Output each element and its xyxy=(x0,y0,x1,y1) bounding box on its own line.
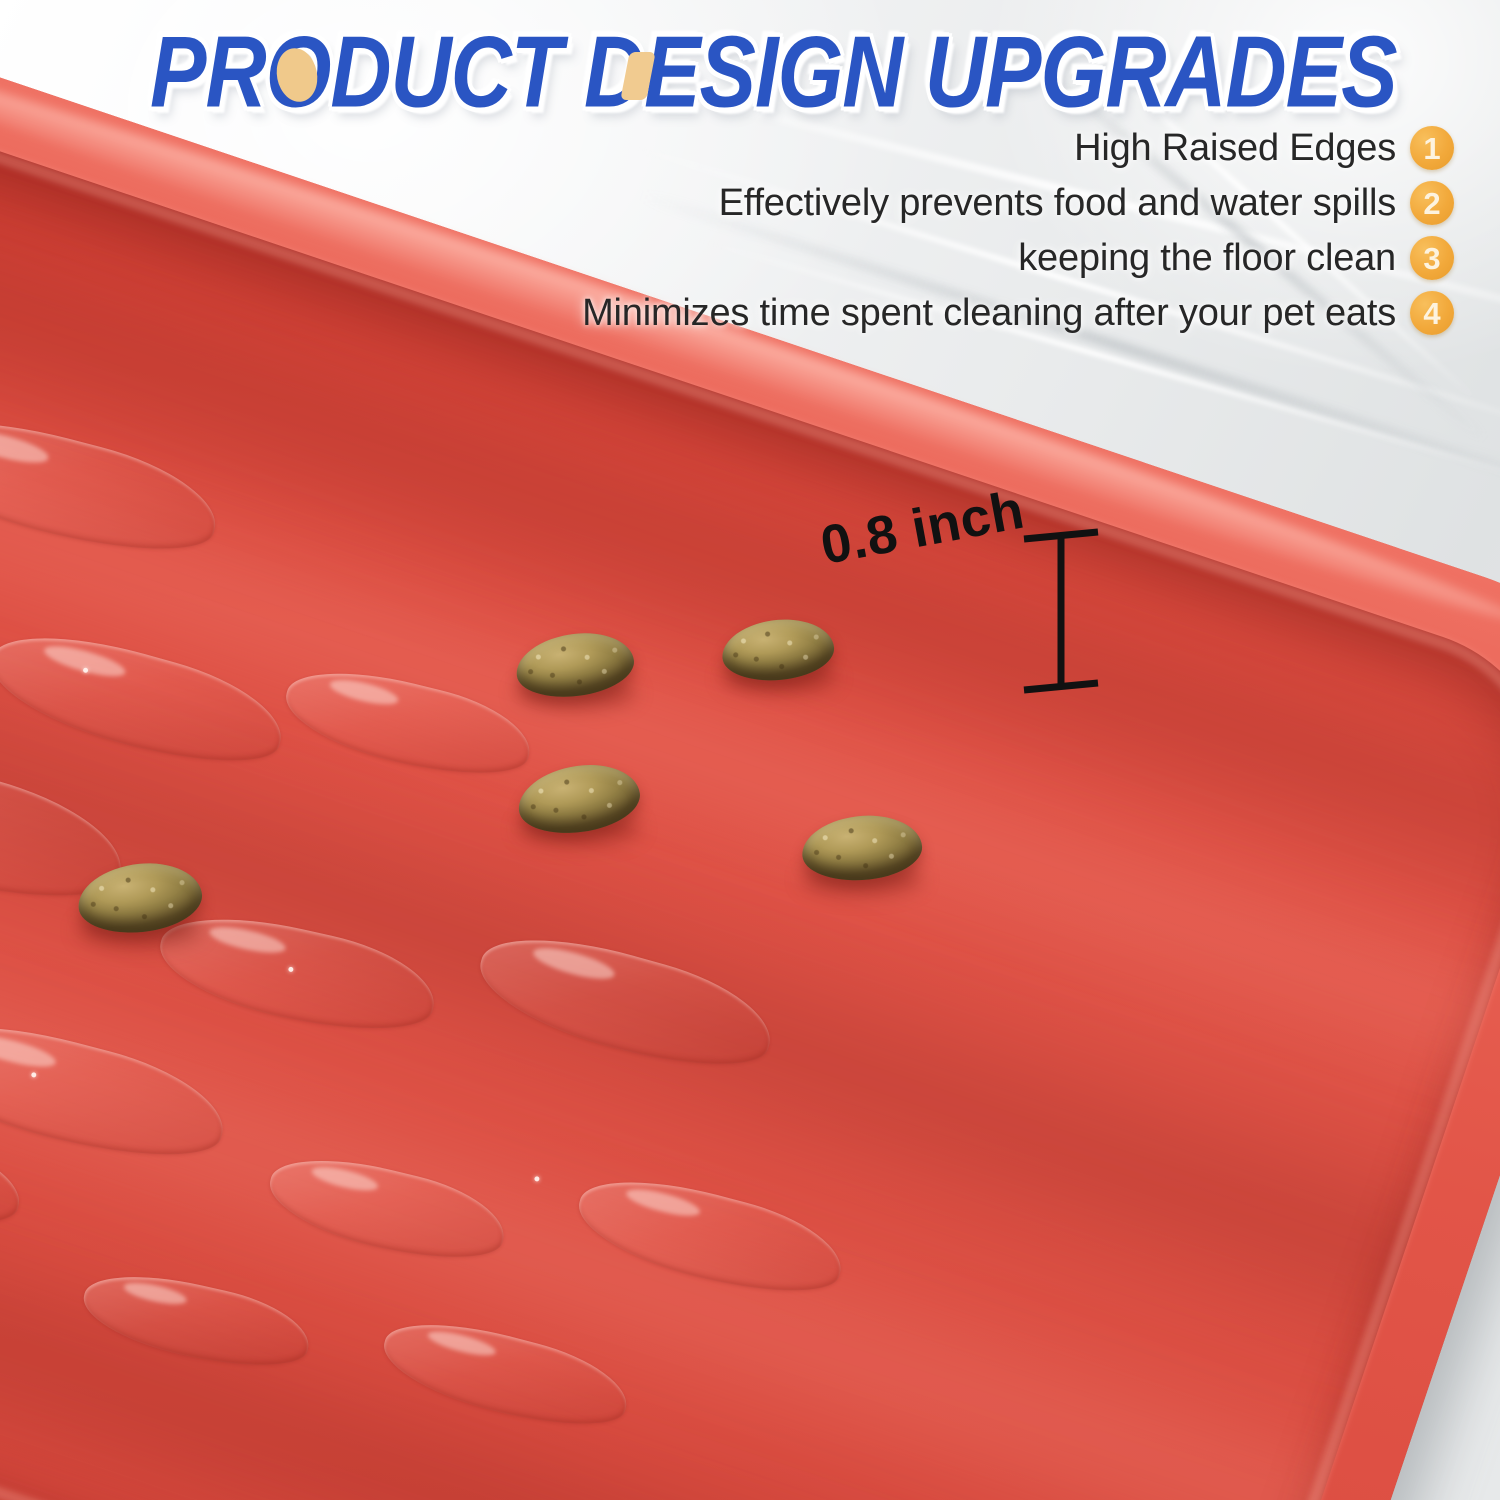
water-droplet xyxy=(0,615,293,784)
water-droplet xyxy=(0,726,135,923)
floor-shade-band-2 xyxy=(0,458,1500,1418)
feature-badge-3: 3 xyxy=(1410,236,1454,280)
feature-item-1: High Raised Edges 1 xyxy=(1074,126,1454,170)
water-sparkle xyxy=(288,966,294,972)
product-infographic: PRODUCT DESIGN UPGRADES High Raised Edge… xyxy=(0,0,1500,1500)
feature-badge-1: 1 xyxy=(1410,126,1454,170)
water-droplet xyxy=(261,1143,513,1275)
water-droplet xyxy=(151,900,444,1049)
feature-label-1: High Raised Edges xyxy=(1074,127,1396,170)
water-droplet xyxy=(277,655,539,792)
water-droplet xyxy=(569,1162,851,1311)
feature-label-4: Minimizes time spent cleaning after your… xyxy=(582,292,1396,335)
water-sparkle xyxy=(534,1176,540,1182)
water-droplet xyxy=(76,1261,316,1381)
feature-label-2: Effectively prevents food and water spil… xyxy=(719,182,1396,225)
water-droplet xyxy=(0,1003,235,1178)
feature-item-2: Effectively prevents food and water spil… xyxy=(719,181,1454,225)
water-sparkle xyxy=(82,667,88,673)
feature-list: High Raised Edges 1 Effectively prevents… xyxy=(582,126,1454,335)
floor-light-band-2 xyxy=(0,733,1465,1500)
floor-shade-band-3 xyxy=(0,970,1386,1500)
feature-badge-2: 2 xyxy=(1410,181,1454,225)
water-droplet xyxy=(468,917,782,1088)
water-sparkle xyxy=(31,1072,37,1078)
feature-item-3: keeping the floor clean 3 xyxy=(1018,236,1454,280)
water-droplet xyxy=(0,399,227,573)
feature-badge-4: 4 xyxy=(1410,291,1454,335)
water-droplet xyxy=(375,1306,636,1443)
feature-label-3: keeping the floor clean xyxy=(1018,237,1396,280)
water-droplet xyxy=(0,1093,29,1245)
feature-item-4: Minimizes time spent cleaning after your… xyxy=(582,291,1454,335)
